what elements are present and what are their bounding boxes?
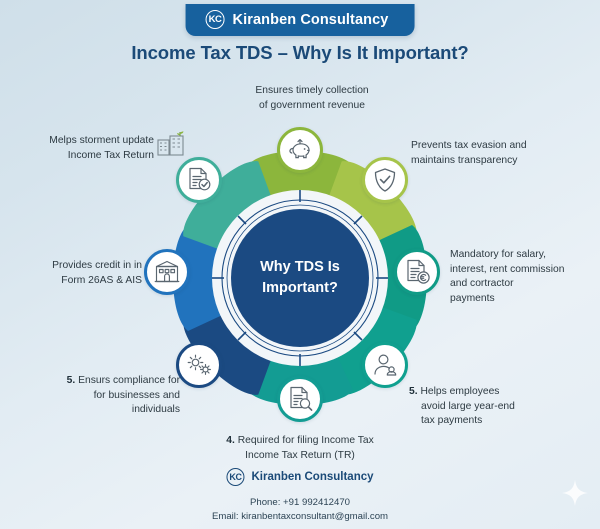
page-title: Income Tax TDS – Why Is It Important? [0,42,600,64]
callout-line: Helps employees [420,386,499,397]
piggy-bank-icon [287,138,313,162]
callout-ensures-compliance: 5. Ensurs compliance for for businesses … [28,374,180,418]
callout-line: Form 26AS & AIS [22,274,142,289]
callout-helps-update-return: Melps storment update Income Tax Return [22,134,154,163]
callout-line: avoid large year-end [409,400,569,415]
callout-line: tax payments [409,414,569,429]
callout-line: Ensurs compliance for [78,375,180,386]
document-search-icon [288,386,313,412]
callout-line: interest, rent commission [450,263,595,278]
footer-contact: Phone: +91 992412470 Email: kiranbentaxc… [0,496,600,524]
shield-check-icon-bubble[interactable] [362,157,408,203]
kc-logo-icon: KC [226,468,244,486]
gears-icon [186,353,213,378]
callout-number: 5. [67,375,76,386]
brand-name: Kiranben Consultancy [233,12,389,28]
document-check-icon-bubble[interactable] [176,157,222,203]
header-brand-pill: KC Kiranben Consultancy [186,4,415,36]
callout-line: payments [450,292,595,307]
piggy-bank-icon-bubble[interactable] [277,127,323,173]
callout-line: Melps storment update [22,134,154,149]
callout-line: Mandatory for salary, [450,248,595,263]
person-user-icon-bubble[interactable] [362,342,408,388]
callout-line: of government revenue [232,99,392,114]
footer-brand: KC Kiranben Consultancy [226,468,373,486]
bank-building-icon-bubble[interactable] [144,249,190,295]
footer-brand-name: Kiranben Consultancy [251,471,373,483]
callout-mandatory-payments: Mandatory for salary, interest, rent com… [450,248,595,306]
person-user-icon [373,353,398,377]
document-check-icon [187,167,212,193]
callout-helps-employees: 5. Helps employees avoid large year-end … [409,385,569,429]
kc-logo-icon: KC [206,10,225,29]
footer-email[interactable]: Email: kiranbentaxconsultant@gmail.com [0,510,600,524]
document-euro-icon [405,259,430,285]
callout-number: 4. [226,435,235,446]
sparkle-icon [562,480,588,511]
callout-line: individuals [28,403,180,418]
callout-provides-credit: Provides credit in in Form 26AS & AIS [22,259,142,288]
callout-number: 5. [409,386,418,397]
document-euro-icon-bubble[interactable] [394,249,440,295]
wheel-center-disc[interactable] [231,209,369,347]
callout-line: Income Tax Return [22,149,154,164]
callout-line: Prevents tax evasion and [411,139,576,154]
callout-line: and cortractor [450,277,595,292]
callout-line: for businesses and [28,389,180,404]
callout-line: Required for filing Income Tax [238,435,374,446]
callout-required-for-filing: 4. Required for filing Income Tax Income… [205,434,395,463]
callout-timely-collection: Ensures timely collection of government … [232,84,392,113]
callout-line: Ensures timely collection [232,84,392,99]
shield-check-icon [373,167,397,193]
callout-line: Income Tax Return (TR) [205,449,395,464]
callout-line: maintains transparency [411,154,576,169]
bank-building-icon [154,260,180,284]
footer-phone: Phone: +91 992412470 [0,496,600,510]
gears-icon-bubble[interactable] [176,342,222,388]
document-search-icon-bubble[interactable] [277,376,323,422]
callout-prevents-evasion: Prevents tax evasion and maintains trans… [411,139,576,168]
callout-line: Provides credit in in [22,259,142,274]
